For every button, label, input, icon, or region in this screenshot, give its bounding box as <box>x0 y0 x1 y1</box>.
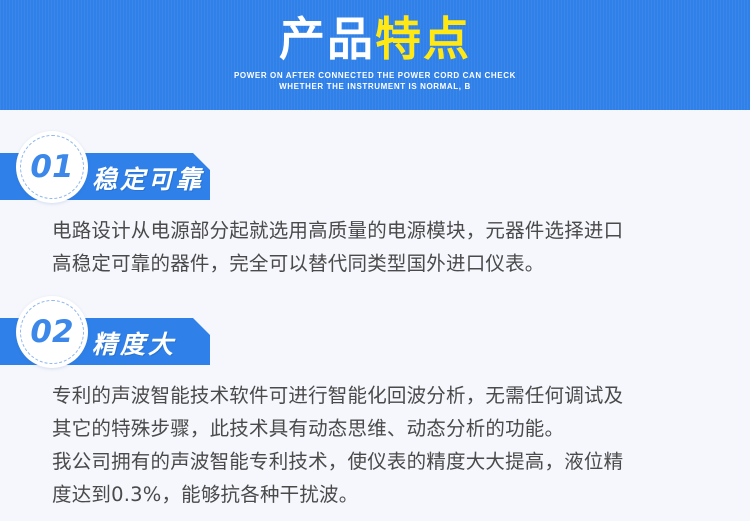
page-title: 产品特点 <box>0 12 750 66</box>
page-title-primary: 产品 <box>279 12 375 66</box>
feature-paragraph-line: 其它的特殊步骤，此技术具有动态思维、动态分析的功能。 <box>52 412 720 445</box>
page-subtitle: POWER ON AFTER CONNECTED THE POWER CORD … <box>0 70 750 92</box>
feature-section-02: 精度大 02 专利的声波智能技术软件可进行智能化回波分析，无需任何调试及 其它的… <box>0 296 750 511</box>
feature-paragraph-line: 专利的声波智能技术软件可进行智能化回波分析，无需任何调试及 <box>52 379 720 412</box>
feature-number-badge-01: 01 <box>16 131 88 203</box>
feature-body-01: 电路设计从电源部分起就选用高质量的电源模块，元器件选择进口 高稳定可靠的器件，完… <box>0 200 750 280</box>
feature-header-01: 稳定可靠 01 <box>0 131 750 200</box>
page-header-banner: 产品特点 POWER ON AFTER CONNECTED THE POWER … <box>0 0 750 110</box>
feature-body-02: 专利的声波智能技术软件可进行智能化回波分析，无需任何调试及 其它的特殊步骤，此技… <box>0 365 750 511</box>
feature-section-01: 稳定可靠 01 电路设计从电源部分起就选用高质量的电源模块，元器件选择进口 高稳… <box>0 131 750 280</box>
page-subtitle-line-1: POWER ON AFTER CONNECTED THE POWER CORD … <box>0 70 750 81</box>
feature-paragraph-line: 高稳定可靠的器件，完全可以替代同类型国外进口仪表。 <box>52 247 720 280</box>
feature-paragraph-line: 度达到0.3%，能够抗各种干扰波。 <box>52 478 720 511</box>
feature-number-badge-02: 02 <box>16 296 88 368</box>
feature-title-01: 稳定可靠 <box>92 155 204 200</box>
page-title-accent: 特点 <box>375 12 471 66</box>
product-features-page: 产品特点 POWER ON AFTER CONNECTED THE POWER … <box>0 0 750 521</box>
feature-header-02: 精度大 02 <box>0 296 750 365</box>
page-subtitle-line-2: WHETHER THE INSTRUMENT IS NORMAL, B <box>0 81 750 92</box>
feature-paragraph-line: 电路设计从电源部分起就选用高质量的电源模块，元器件选择进口 <box>52 214 720 247</box>
feature-paragraph-line: 我公司拥有的声波智能专利技术，使仪表的精度大大提高，液位精 <box>52 445 720 478</box>
feature-number-01: 01 <box>16 131 88 203</box>
feature-title-02: 精度大 <box>92 320 176 365</box>
feature-number-02: 02 <box>16 296 88 368</box>
